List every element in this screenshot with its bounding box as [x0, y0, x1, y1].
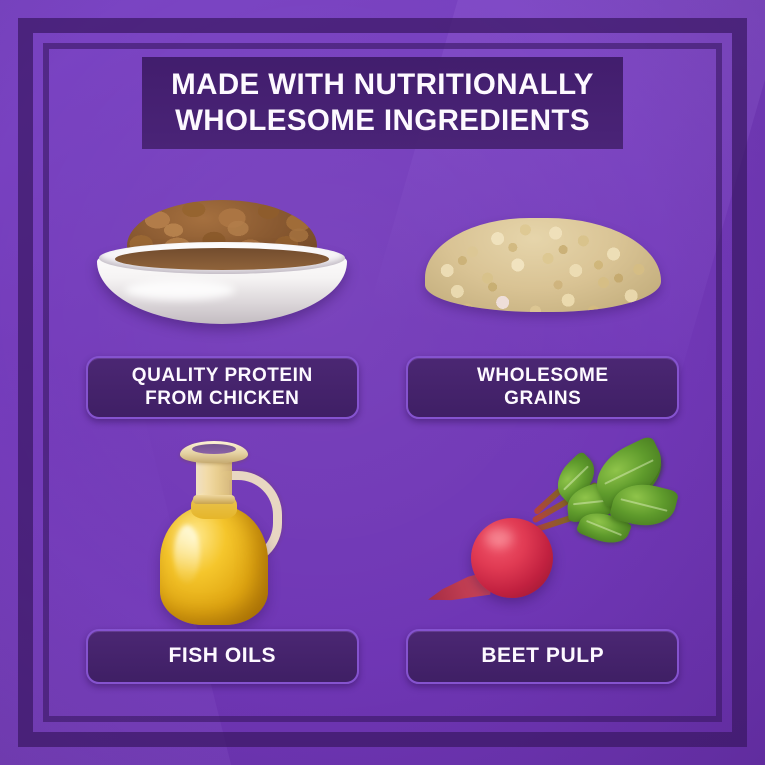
- ingredient-card-quality-protein-from-chicken: QUALITY PROTEIN FROM CHICKEN: [62, 168, 383, 433]
- bowl-highlight: [125, 280, 235, 300]
- leaf-vein: [621, 498, 667, 511]
- ingredients-poster: MADE WITH NUTRITIONALLY WHOLESOME INGRED…: [0, 0, 765, 765]
- ingredient-card-fish-oils: FISH OILS: [62, 433, 383, 698]
- ingredient-label-text: BEET PULP: [471, 637, 614, 676]
- ingredient-label-text: FISH OILS: [158, 637, 286, 676]
- grain-pile: [425, 218, 661, 312]
- beet-bulb-highlight: [485, 528, 513, 548]
- ingredient-label-pill-beet-pulp[interactable]: BEET PULP: [406, 629, 679, 684]
- ingredient-card-beet-pulp: BEET PULP: [383, 433, 704, 698]
- ingredient-label-pill-fish-oils[interactable]: FISH OILS: [86, 629, 359, 684]
- beet-image: [427, 440, 659, 622]
- ingredient-label-pill-wholesome-grains[interactable]: WHOLESOME GRAINS: [406, 356, 679, 419]
- cruet-opening: [192, 444, 236, 454]
- bowl-inner-shadow: [115, 248, 329, 270]
- page-title: MADE WITH NUTRITIONALLY WHOLESOME INGRED…: [163, 67, 602, 139]
- ingredient-card-wholesome-grains: WHOLESOME GRAINS: [383, 168, 704, 433]
- bowl-of-kibble-image: [97, 198, 347, 326]
- ingredient-art-fish-oils: [62, 433, 383, 629]
- grain-pile-image: [419, 206, 667, 318]
- beet-bulb: [471, 518, 553, 598]
- ingredient-art-beet-pulp: [383, 433, 704, 629]
- leaf-vein: [604, 459, 654, 485]
- cruet-collar: [193, 495, 235, 504]
- header-banner: MADE WITH NUTRITIONALLY WHOLESOME INGRED…: [142, 57, 623, 149]
- ingredients-grid: QUALITY PROTEIN FROM CHICKEN WHOLESOME G…: [62, 168, 703, 698]
- ingredient-label-text: WHOLESOME GRAINS: [467, 358, 619, 417]
- ingredient-art-wholesome-grains: [383, 168, 704, 356]
- oil-cruet-image: [142, 433, 302, 629]
- ingredient-label-text: QUALITY PROTEIN FROM CHICKEN: [122, 358, 323, 417]
- ingredient-label-pill-quality-protein-from-chicken[interactable]: QUALITY PROTEIN FROM CHICKEN: [86, 356, 359, 419]
- ingredient-art-quality-protein-from-chicken: [62, 168, 383, 356]
- leaf-vein: [586, 520, 622, 536]
